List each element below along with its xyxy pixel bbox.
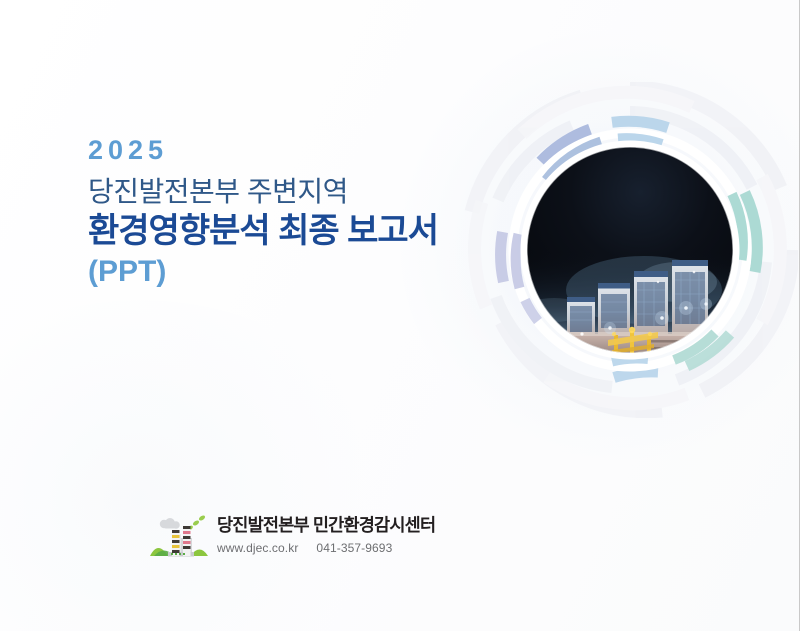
factory-eco-logo-icon [150, 512, 208, 560]
website-url[interactable]: www.djec.co.kr [217, 541, 298, 555]
cover-year: 2025 [88, 136, 508, 166]
cover-title-block: 2025 당진발전본부 주변지역 환경영향분석 최종 보고서 (PPT) [88, 136, 508, 290]
contact-line: www.djec.co.kr041-357-9693 [217, 541, 435, 555]
circular-photo-graphic [462, 82, 798, 418]
cover-format-note: (PPT) [88, 253, 508, 291]
footer-text-block: 당진발전본부 민간환경감시센터 www.djec.co.kr041-357-96… [217, 515, 435, 558]
cover-main-title: 환경영향분석 최종 보고서 [88, 211, 508, 252]
background-glow-left [0, 300, 400, 631]
cover-subtitle: 당진발전본부 주변지역 [88, 175, 508, 208]
footer: 당진발전본부 민간환경감시센터 www.djec.co.kr041-357-96… [150, 512, 435, 560]
phone-number: 041-357-9693 [316, 541, 392, 555]
report-cover-page: 2025 당진발전본부 주변지역 환경영향분석 최종 보고서 (PPT) [0, 0, 800, 631]
organization-name: 당진발전본부 민간환경감시센터 [217, 515, 435, 537]
